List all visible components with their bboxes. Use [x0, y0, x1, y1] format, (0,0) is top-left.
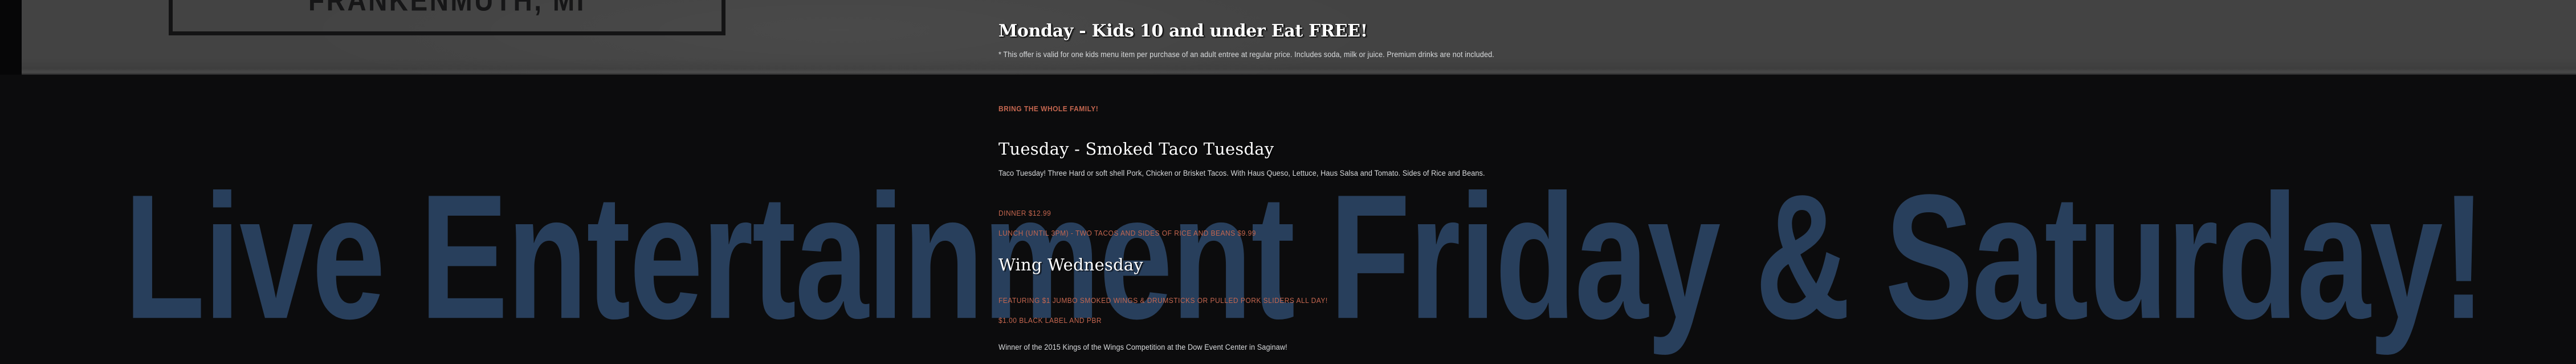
left-edge-strip: [0, 0, 22, 75]
tuesday-description: Taco Tuesday! Three Hard or soft shell P…: [998, 167, 1583, 180]
tuesday-lunch-price: LUNCH (UNTIL 3PM) - TWO TACOS AND SIDES …: [998, 228, 1256, 238]
monday-heading: Monday - Kids 10 and under Eat FREE!: [998, 22, 1368, 41]
wednesday-drink-line: $1.00 BLACK LABEL AND PBR: [998, 316, 1102, 326]
background-headline: Live Entertainment Friday & Saturday!: [124, 169, 2569, 346]
wednesday-heading: Wing Wednesday: [998, 255, 1143, 274]
monday-fineprint: * This offer is valid for one kids menu …: [998, 48, 1583, 61]
tuesday-heading: Tuesday - Smoked Taco Tuesday: [998, 139, 1274, 159]
logo-badge[interactable]: FRANKENMUTH, MI: [169, 0, 725, 35]
wednesday-feature-line: FEATURING $1 JUMBO SMOKED WINGS & DRUMST…: [998, 296, 1328, 306]
wednesday-award-line: Winner of the 2015 Kings of the Wings Co…: [998, 341, 1583, 354]
tuesday-dinner-price: DINNER $12.99: [998, 208, 1051, 219]
logo-location-label: FRANKENMUTH, MI: [173, 0, 722, 18]
page-root: Live Entertainment Friday & Saturday! FR…: [0, 0, 2576, 364]
monday-tagline: BRING THE WHOLE FAMILY!: [998, 104, 1098, 114]
